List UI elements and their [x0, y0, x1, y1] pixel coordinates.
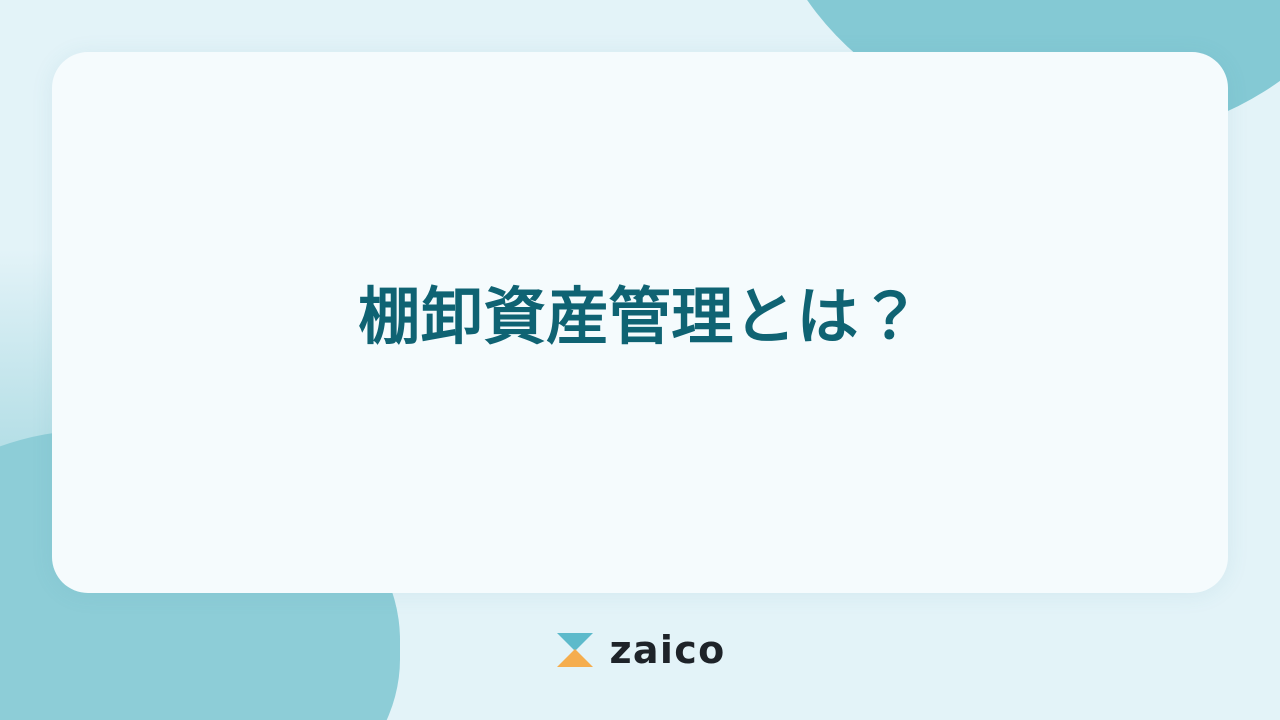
page-title: 棚卸資産管理とは？ — [358, 278, 922, 356]
zaico-logo: zaico — [554, 630, 725, 670]
zaico-wordmark: zaico — [609, 631, 725, 669]
slide-canvas: 棚卸資産管理とは？ zaico — [0, 0, 1280, 720]
content-card: 棚卸資産管理とは？ — [52, 52, 1228, 593]
zaico-hourglass-logo-icon — [554, 630, 596, 670]
footer: zaico — [0, 620, 1280, 680]
